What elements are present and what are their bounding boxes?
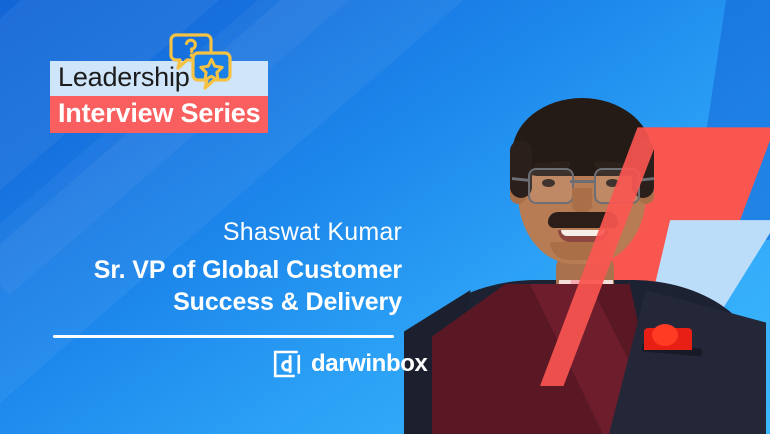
star-bubble-icon (193, 53, 230, 88)
divider-rule (53, 335, 394, 338)
speaker-title-line2: Success & Delivery (173, 288, 402, 316)
badge: Leadership Interview Series (50, 61, 268, 133)
leadership-interview-banner: Leadership Interview Series Shaswat Kuma… (0, 0, 770, 434)
speech-bubbles-icon-group (168, 31, 234, 93)
badge-line-interview-series: Interview Series (50, 96, 268, 133)
darwinbox-wordmark: darwinbox (311, 352, 427, 376)
speaker-title: Sr. VP of Global CustomerSuccess & Deliv… (40, 254, 402, 318)
badge-line-leadership: Leadership (50, 61, 268, 96)
portrait-eyeglass-lens-left (528, 168, 574, 204)
darwinbox-logo: darwinbox (272, 349, 427, 379)
darwinbox-d-mark-icon (272, 349, 302, 379)
speaker-title-line1: Sr. VP of Global Customer (94, 256, 402, 284)
speaker-name: Shaswat Kumar (40, 218, 402, 248)
speaker-portrait (398, 84, 770, 434)
portrait-eyeglass-bridge (570, 180, 594, 183)
portrait-nose (572, 188, 592, 214)
speaker-text-block: Shaswat Kumar Sr. VP of Global CustomerS… (40, 218, 402, 318)
portrait-pocket-square-fold (652, 324, 678, 346)
